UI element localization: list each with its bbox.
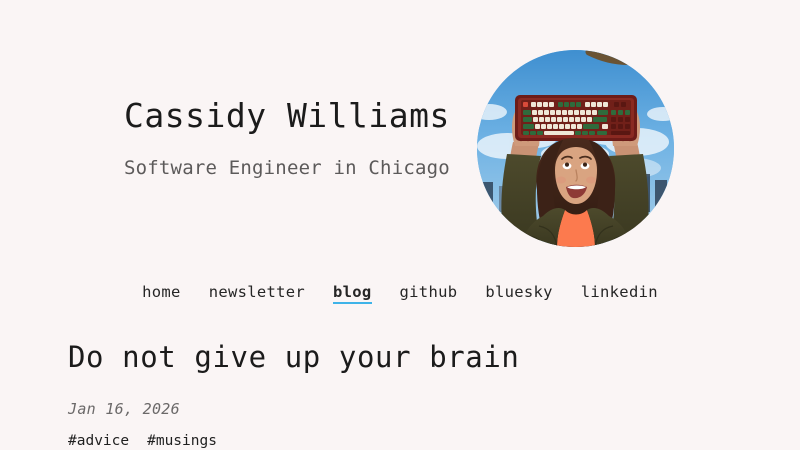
post-tag-musings[interactable]: #musings [147, 433, 217, 450]
nav-item-github[interactable]: github [400, 283, 458, 301]
site-title: Cassidy Williams [124, 96, 454, 136]
avatar-photo [477, 50, 674, 247]
main-nav: home newsletter blog github bluesky link… [0, 283, 800, 304]
nav-item-blog[interactable]: blog [333, 283, 372, 304]
page-root: Cassidy Williams Software Engineer in Ch… [0, 0, 800, 450]
post-title: Do not give up your brain [68, 340, 768, 375]
site-identity: Cassidy Williams Software Engineer in Ch… [124, 96, 454, 181]
nav-item-home[interactable]: home [142, 283, 181, 301]
post-tag-advice[interactable]: #advice [68, 433, 129, 450]
avatar [477, 50, 674, 247]
post-header: Do not give up your brain Jan 16, 2026 #… [68, 340, 768, 450]
nav-item-newsletter[interactable]: newsletter [209, 283, 305, 301]
post-date: Jan 16, 2026 [68, 400, 768, 418]
nav-item-bluesky[interactable]: bluesky [485, 283, 552, 301]
site-header: Cassidy Williams Software Engineer in Ch… [0, 0, 800, 258]
nav-item-linkedin[interactable]: linkedin [581, 283, 658, 301]
post-tag-list: #advice #musings [68, 433, 768, 450]
site-tagline: Software Engineer in Chicago [124, 155, 454, 181]
